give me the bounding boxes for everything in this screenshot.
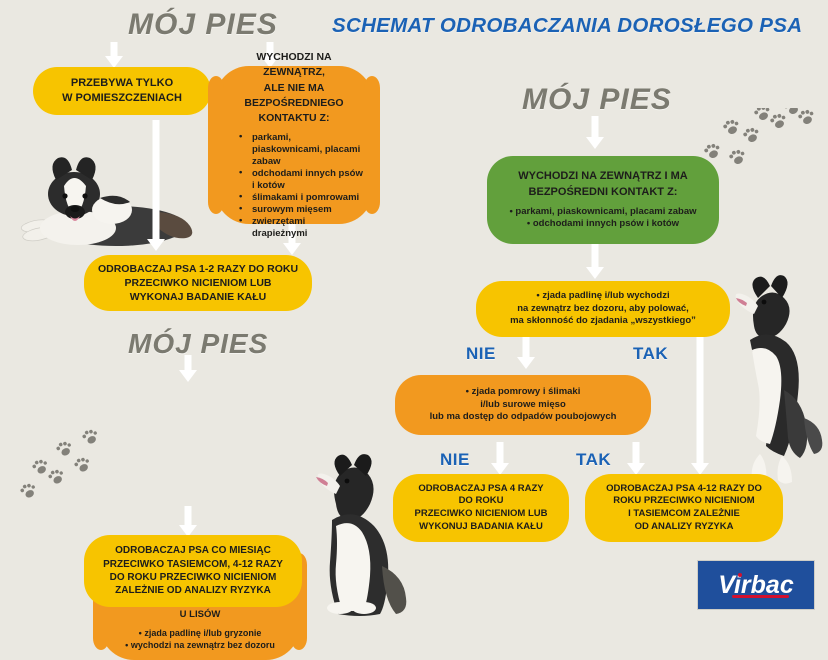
box-line: PRZEBYWA TYLKO <box>43 76 201 91</box>
box-line: ODROBACZAJ PSA 4 RAZY <box>403 483 559 496</box>
arrow-direct-contact-to-scavenging <box>585 244 605 280</box>
box-result-yes: ODROBACZAJ PSA 4-12 RAZY DO ROKU PRZECIW… <box>585 474 783 542</box>
dog-photo-jumping <box>724 240 828 500</box>
arrow-indoor-to-result <box>146 120 166 254</box>
box-line: ODROBACZAJ PSA 1-2 RAZY DO ROKU <box>94 262 302 276</box>
box-line: OD ANALIZY RYZYKA <box>595 521 773 534</box>
box-line: WYKONUJ BADANIA KAŁU <box>403 521 559 534</box>
box-line: PRZECIWKO TASIEMCOM, 4-12 RAZY <box>94 558 292 571</box>
box-line: lub ma dostęp do odpadów poubojowych <box>405 411 641 424</box>
label-nie-2: NIE <box>440 450 470 470</box>
bullet-item: zjada padlinę i/lub gryzonie <box>110 628 290 640</box>
bullet-item: odchodami innych psów i kotów <box>497 218 709 231</box>
box-line: WYKONAJ BADANIE KAŁU <box>94 290 302 304</box>
box-outdoor-no-contact: WYCHODZI NA ZEWNĄTRZ, ALE NIE MA BEZPOŚR… <box>215 66 373 224</box>
label-tak-2: TAK <box>576 450 611 470</box>
bullet-item: wychodzi na zewnątrz bez dozoru <box>110 640 290 652</box>
box-line: i/lub surowe mięso <box>405 399 641 412</box>
bullet-item: ślimakami i pomrowami <box>239 192 363 204</box>
virbac-logo-underline <box>732 595 789 598</box>
box-line: ma skłonność do zjadania „wszystkiego” <box>486 315 720 328</box>
arrow-tak-to-result-yes <box>690 336 710 476</box>
heading-moj-pies-top-right: MÓJ PIES <box>522 83 672 117</box>
box-heading-line: U LISÓW <box>110 608 290 622</box>
box-line: PRZECIWKO NICIENIOM LUB <box>403 508 559 521</box>
box-heading-line: WYCHODZI NA ZEWNĄTRZ I MA <box>497 169 709 185</box>
virbac-wordmark: Virbac <box>718 571 794 600</box>
paw-trail-right <box>700 108 828 200</box>
box-line: ZALEŻNIE OD ANALIZY RYZYKA <box>94 584 292 597</box>
arrow-down-to-direct-contact <box>585 116 605 150</box>
box-line: PRZECIWKO NICIENIOM LUB <box>94 276 302 290</box>
bullet-text: zjada padlinę i/lub gryzonie <box>144 628 261 638</box>
dog-photo-sitting <box>296 448 412 616</box>
infographic-canvas: MÓJ PIES SCHEMAT ODROBACZANIA DOROSŁEGO … <box>0 0 828 621</box>
box-line: W POMIESZCZENIACH <box>43 91 201 106</box>
bullet-item: parkami, piaskownicami, placami zabaw <box>497 206 709 219</box>
box-slugs-raw-meat: • zjada pomrowy i ślimaki i/lub surowe m… <box>395 375 651 435</box>
box-line: ODROBACZAJ PSA CO MIESIĄC <box>94 544 292 557</box>
arrow-nie2-to-result <box>490 442 510 476</box>
bullet-text: odchodami innych psów i kotów <box>533 218 679 229</box>
box-line: ODROBACZAJ PSA 4-12 RAZY DO <box>595 483 773 496</box>
box-result-no-no: ODROBACZAJ PSA 4 RAZY DO ROKU PRZECIWKO … <box>393 474 569 542</box>
dog-photo-lying <box>8 140 198 255</box>
arrow-nie-to-slugs <box>516 336 536 370</box>
arrow-down-to-endemic <box>178 355 198 383</box>
arrow-down-to-indoor <box>104 42 124 68</box>
box-line: I TASIEMCOM ZALEŻNIE <box>595 508 773 521</box>
virbac-logo-dot <box>738 573 742 577</box>
box-indoor-only: PRZEBYWA TYLKO W POMIESZCZENIACH <box>33 67 211 115</box>
box-heading-line: WYCHODZI NA ZEWNĄTRZ, <box>225 50 363 80</box>
bullet-text: parkami, piaskownicami, placami zabaw <box>515 206 696 217</box>
page-title: SCHEMAT ODROBACZANIA DOROSŁEGO PSA <box>332 14 802 38</box>
label-nie-1: NIE <box>466 344 496 364</box>
box-line: ROKU PRZECIWKO NICIENIOM <box>595 495 773 508</box>
heading-moj-pies-top-left: MÓJ PIES <box>128 8 278 42</box>
box-result-endemic: ODROBACZAJ PSA CO MIESIĄC PRZECIWKO TASI… <box>84 535 302 607</box>
box-heading-line: ALE NIE MA <box>225 81 363 96</box>
paw-trail-left <box>18 420 138 520</box>
box-line: DO ROKU <box>403 495 559 508</box>
arrow-endemic-to-result <box>178 506 198 538</box>
virbac-logo: Virbac <box>697 560 815 610</box>
bullet-item: parkami, piaskownicami, placami zabaw <box>239 132 363 168</box>
box-heading-line: BEZPOŚREDNIEGO <box>225 96 363 111</box>
heading-moj-pies-mid-left: MÓJ PIES <box>128 328 268 360</box>
bullet-item: zwierzętami drapieżnymi <box>239 216 363 240</box>
box-scavenging: • zjada padlinę i/lub wychodzi na zewnąt… <box>476 281 730 337</box>
box-heading-line: BEZPOŚREDNI KONTAKT Z: <box>497 185 709 201</box>
bullet-item: surowym mięsem <box>239 204 363 216</box>
arrow-tak2-to-result <box>626 442 646 476</box>
box-result-indoor: ODROBACZAJ PSA 1-2 RAZY DO ROKU PRZECIWK… <box>84 255 312 311</box>
box-line: DO ROKU PRZECIWKO NICIENIOM <box>94 571 292 584</box>
box-line: • zjada pomrowy i ślimaki <box>405 386 641 399</box>
box-heading-line: KONTAKTU Z: <box>225 111 363 126</box>
box-line: • zjada padlinę i/lub wychodzi <box>486 290 720 303</box>
box-outdoor-direct-contact: WYCHODZI NA ZEWNĄTRZ I MA BEZPOŚREDNI KO… <box>487 156 719 244</box>
bullet-item: odchodami innych psów i kotów <box>239 168 363 192</box>
label-tak-1: TAK <box>633 344 668 364</box>
bullet-text: wychodzi na zewnątrz bez dozoru <box>131 640 275 650</box>
box-line: na zewnątrz bez dozoru, aby polować, <box>486 303 720 316</box>
